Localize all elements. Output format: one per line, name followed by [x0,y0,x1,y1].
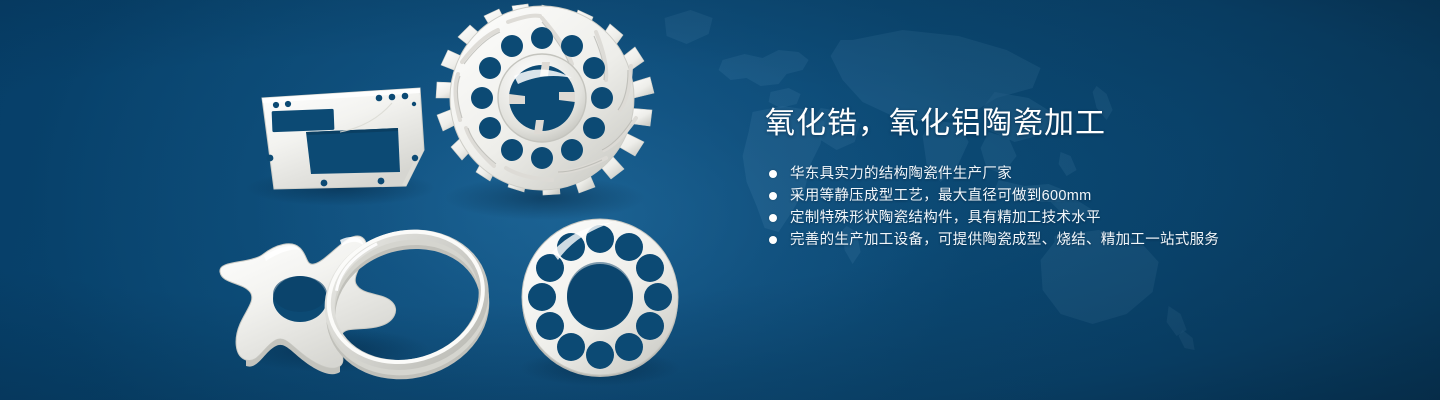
feature-item: 完善的生产加工设备，可提供陶瓷成型、烧结、精加工一站式服务 [765,233,1385,248]
bullet-dot-icon [769,236,777,244]
hero-banner: 氧化锆，氧化铝陶瓷加工 华东具实力的结构陶瓷件生产厂家 采用等静压成型工艺，最大… [0,0,1440,400]
feature-text: 华东具实力的结构陶瓷件生产厂家 [790,167,1012,182]
bullet-dot-icon [769,192,777,200]
bullet-dot-icon [769,170,777,178]
feature-text: 采用等静压成型工艺，最大直径可做到600mm [790,189,1091,204]
bullet-dot-icon [769,214,777,222]
feature-text: 完善的生产加工设备，可提供陶瓷成型、烧结、精加工一站式服务 [790,233,1219,248]
banner-headline: 氧化锆，氧化铝陶瓷加工 [765,104,1385,145]
banner-feature-list: 华东具实力的结构陶瓷件生产厂家 采用等静压成型工艺，最大直径可做到600mm 定… [765,167,1385,248]
feature-text: 定制特殊形状陶瓷结构件，具有精加工技术水平 [790,211,1101,226]
feature-item: 定制特殊形状陶瓷结构件，具有精加工技术水平 [765,211,1385,226]
banner-copy: 氧化锆，氧化铝陶瓷加工 华东具实力的结构陶瓷件生产厂家 采用等静压成型工艺，最大… [765,104,1385,255]
feature-item: 采用等静压成型工艺，最大直径可做到600mm [765,189,1385,204]
feature-item: 华东具实力的结构陶瓷件生产厂家 [765,167,1385,182]
